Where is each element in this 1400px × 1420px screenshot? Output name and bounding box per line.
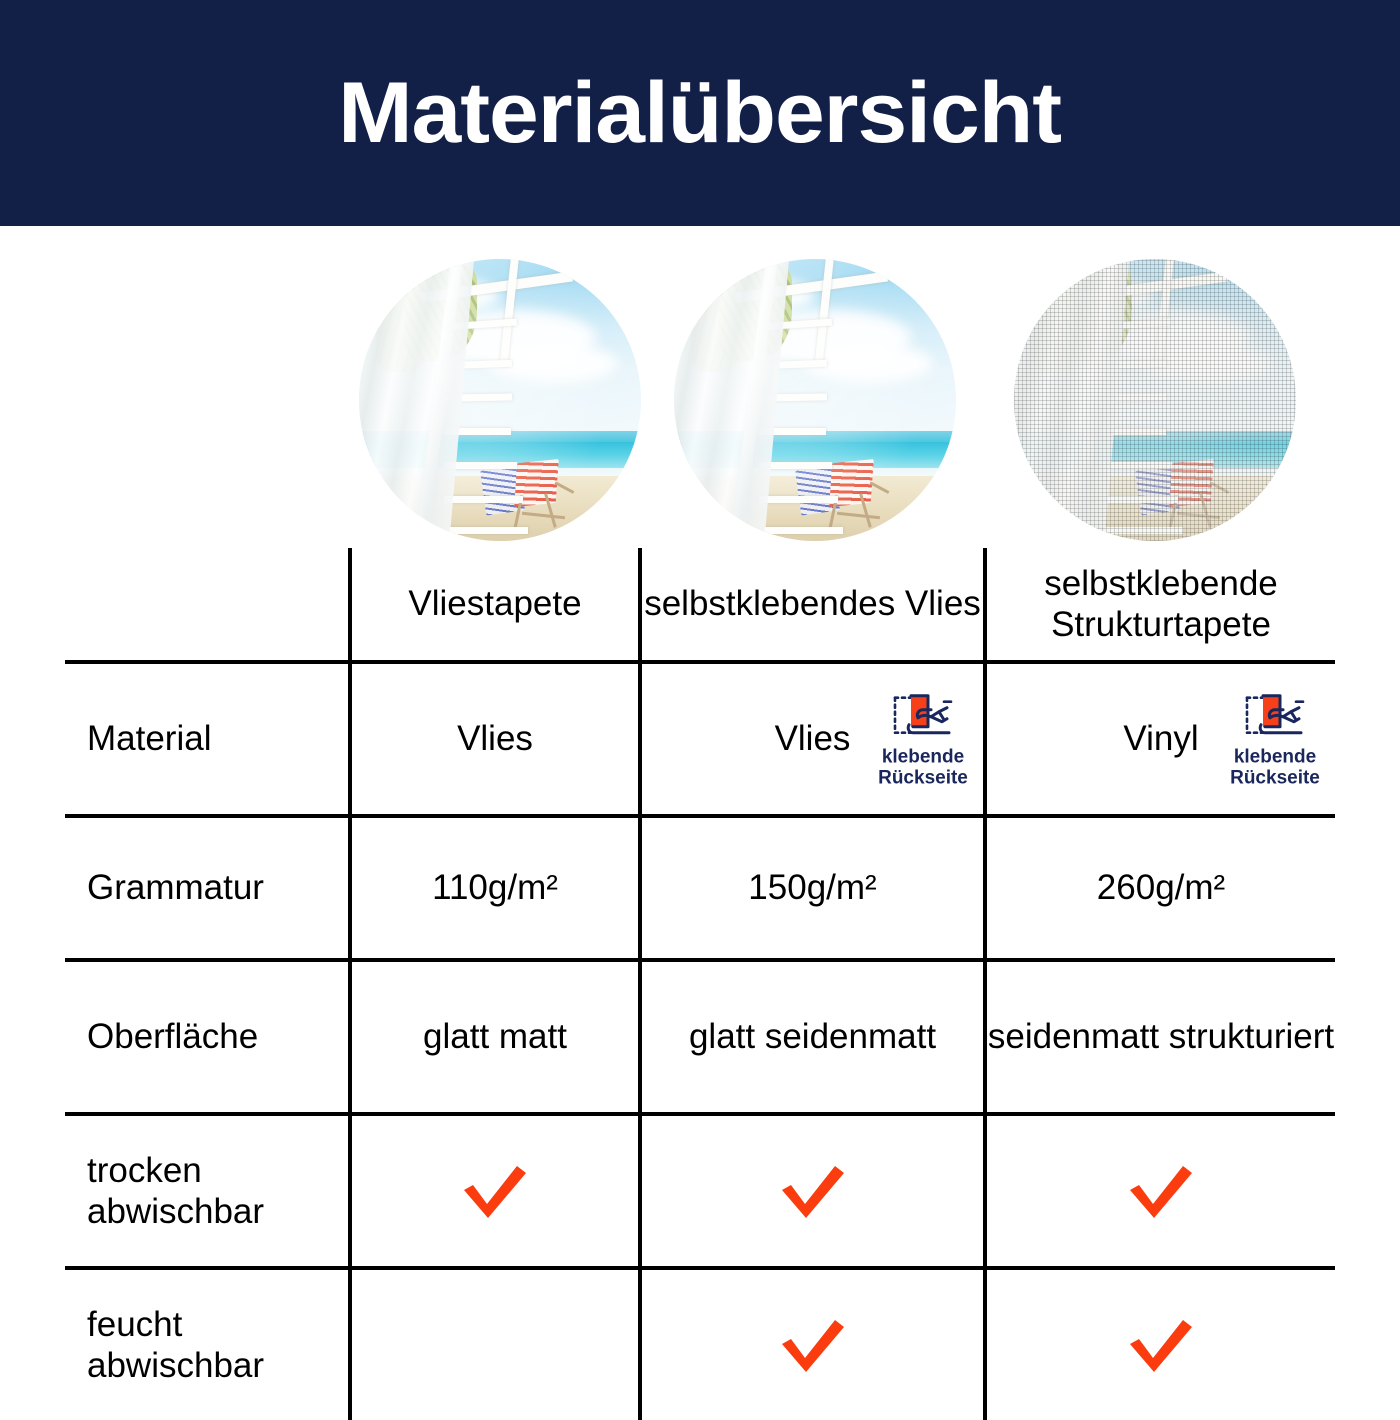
adhesive-back-badge: klebende Rückseite xyxy=(857,689,989,790)
adhesive-back-label: klebende Rückseite xyxy=(857,747,989,790)
adhesive-back-icon xyxy=(887,689,959,743)
cell-value: Vlies xyxy=(775,718,851,759)
cell-grammatur-1: 110g/m² xyxy=(350,816,640,960)
beach-window-scene xyxy=(1014,259,1296,541)
beach-window-scene xyxy=(359,259,641,541)
adhesive-back-label: klebende Rückseite xyxy=(1209,747,1341,790)
table-row: Grammatur 110g/m² 150g/m² 260g/m² xyxy=(65,816,1335,960)
structure-texture-overlay xyxy=(1014,259,1296,541)
check-icon xyxy=(1123,1314,1199,1376)
cell-oberflaeche-3: seidenmatt strukturiert xyxy=(985,960,1335,1114)
product-image-vliestapete xyxy=(359,259,641,541)
cell-feucht-1 xyxy=(350,1268,640,1420)
adhesive-back-icon xyxy=(1239,689,1311,743)
table-row: feucht abwischbar xyxy=(65,1268,1335,1420)
check-icon xyxy=(775,1314,851,1376)
cell-grammatur-2: 150g/m² xyxy=(640,816,985,960)
page-title: Materialübersicht xyxy=(339,70,1062,156)
row-label-grammatur: Grammatur xyxy=(65,816,350,960)
light-glow xyxy=(359,259,641,541)
cell-grammatur-3: 260g/m² xyxy=(985,816,1335,960)
table-header-row: Vliestapete selbstklebendes Vlies selbst… xyxy=(65,548,1335,662)
product-image-row xyxy=(0,255,1400,545)
beach-window-scene xyxy=(674,259,956,541)
cell-trocken-2 xyxy=(640,1114,985,1268)
cell-trocken-3 xyxy=(985,1114,1335,1268)
cell-feucht-3 xyxy=(985,1268,1335,1420)
check-icon xyxy=(775,1160,851,1222)
row-label-trocken-abwischbar: trocken abwischbar xyxy=(65,1114,350,1268)
cell-oberflaeche-2: glatt seidenmatt xyxy=(640,960,985,1114)
column-header-1: Vliestapete xyxy=(350,548,640,662)
row-label-oberflaeche: Oberfläche xyxy=(65,960,350,1114)
check-icon xyxy=(457,1160,533,1222)
column-header-2: selbstklebendes Vlies xyxy=(640,548,985,662)
cell-trocken-1 xyxy=(350,1114,640,1268)
check-icon xyxy=(1123,1160,1199,1222)
product-image-strukturtapete xyxy=(1014,259,1296,541)
cell-material-3: Vinyl xyxy=(985,662,1335,816)
cell-value: Vinyl xyxy=(1123,718,1198,759)
table-row: trocken abwischbar xyxy=(65,1114,1335,1268)
light-glow xyxy=(674,259,956,541)
table-row: Oberfläche glatt matt glatt seidenmatt s… xyxy=(65,960,1335,1114)
material-comparison-table: Vliestapete selbstklebendes Vlies selbst… xyxy=(65,548,1335,1420)
row-label-feucht-abwischbar: feucht abwischbar xyxy=(65,1268,350,1420)
column-header-3: selbstklebende Strukturtapete xyxy=(985,548,1335,662)
adhesive-back-badge: klebende Rückseite xyxy=(1209,689,1341,790)
row-label-material: Material xyxy=(65,662,350,816)
table-row: Material Vlies Vlies xyxy=(65,662,1335,816)
cell-feucht-2 xyxy=(640,1268,985,1420)
cell-oberflaeche-1: glatt matt xyxy=(350,960,640,1114)
cell-material-2: Vlies xyxy=(640,662,985,816)
header-banner: Materialübersicht xyxy=(0,0,1400,226)
product-image-selbstklebendes-vlies xyxy=(674,259,956,541)
header-spacer xyxy=(65,548,350,662)
cell-material-1: Vlies xyxy=(350,662,640,816)
